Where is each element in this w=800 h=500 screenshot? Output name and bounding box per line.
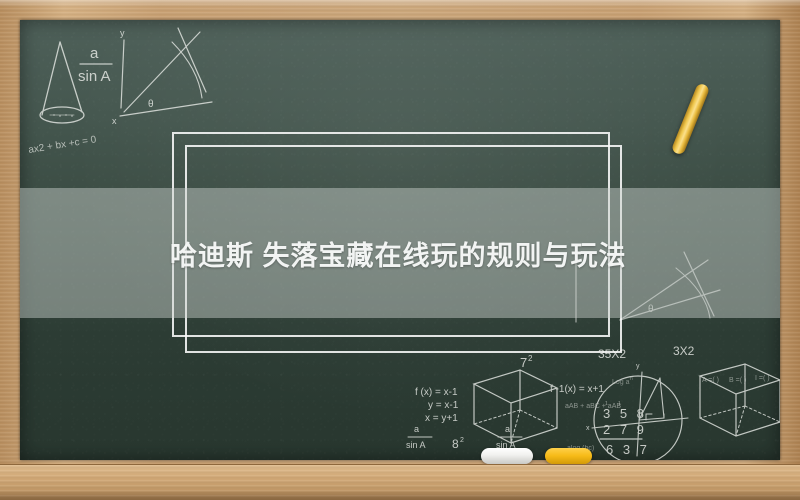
yellow-chalk-icon — [545, 448, 592, 464]
svg-text:sin A: sin A — [78, 68, 111, 85]
svg-text:y = x-1: y = x-1 — [428, 400, 459, 411]
inverse-function-text: f -1(x) = x+1 — [550, 384, 604, 395]
svg-text:a: a — [505, 424, 510, 434]
quadratic-equation-text: ax2 + bx +c = 0 — [28, 134, 98, 156]
cube-drawing-center — [474, 370, 557, 443]
svg-text:2: 2 — [460, 437, 464, 444]
svg-text:θ: θ — [148, 99, 154, 110]
svg-text:sin A: sin A — [406, 440, 426, 450]
column-addition-drawing: 1 1 3 5 8 2 7 9 6 3 7 — [600, 401, 650, 457]
svg-text:a: a — [90, 45, 99, 62]
svg-text:B =( ): B =( ) — [729, 377, 746, 384]
svg-text:y: y — [120, 28, 125, 38]
page-title: 哈迪斯 失落宝藏在线玩的规则与玩法 — [170, 188, 770, 318]
svg-text:ax2 + bx +c = 0: ax2 + bx +c = 0 — [28, 134, 98, 156]
law-of-sines-fraction-center-bottom: a sin A — [496, 424, 522, 450]
svg-text:2: 2 — [528, 354, 533, 363]
law-of-sines-fraction-top: a sin A — [78, 45, 112, 85]
chalkboard-frame: a sin A y x θ ax2 + bx +c = — [0, 0, 800, 500]
svg-text:y: y — [636, 363, 640, 370]
svg-text:6 3 7: 6 3 7 — [606, 442, 650, 457]
cube-drawing-right — [700, 364, 780, 436]
chalk-tray-ledge — [0, 464, 800, 500]
svg-text:I =( ): I =( ) — [755, 375, 770, 382]
white-chalk-icon — [481, 448, 533, 464]
function-equations-text: f (x) = x-1 y = x-1 x = y+1 — [415, 387, 459, 424]
svg-text:x: x — [112, 116, 117, 126]
svg-text:x: x — [586, 425, 590, 432]
chalkboard-surface: a sin A y x θ ax2 + bx +c = — [20, 20, 780, 460]
svg-text:f (x) = x-1: f (x) = x-1 — [415, 387, 458, 398]
svg-text:2 7 9: 2 7 9 — [603, 422, 647, 437]
eight-squared-text: 8 2 — [452, 437, 464, 451]
svg-text:8: 8 — [452, 437, 459, 451]
svg-text:7: 7 — [520, 355, 527, 370]
multiplication-3x2-text: 3X2 — [673, 344, 695, 358]
svg-text:a: a — [414, 424, 419, 434]
law-of-sines-fraction-left-bottom: a sin A — [406, 424, 432, 450]
svg-text:x = y+1: x = y+1 — [425, 413, 458, 424]
svg-text:3 5 8: 3 5 8 — [603, 406, 647, 421]
angle-axes-drawing: y x θ — [112, 28, 212, 126]
